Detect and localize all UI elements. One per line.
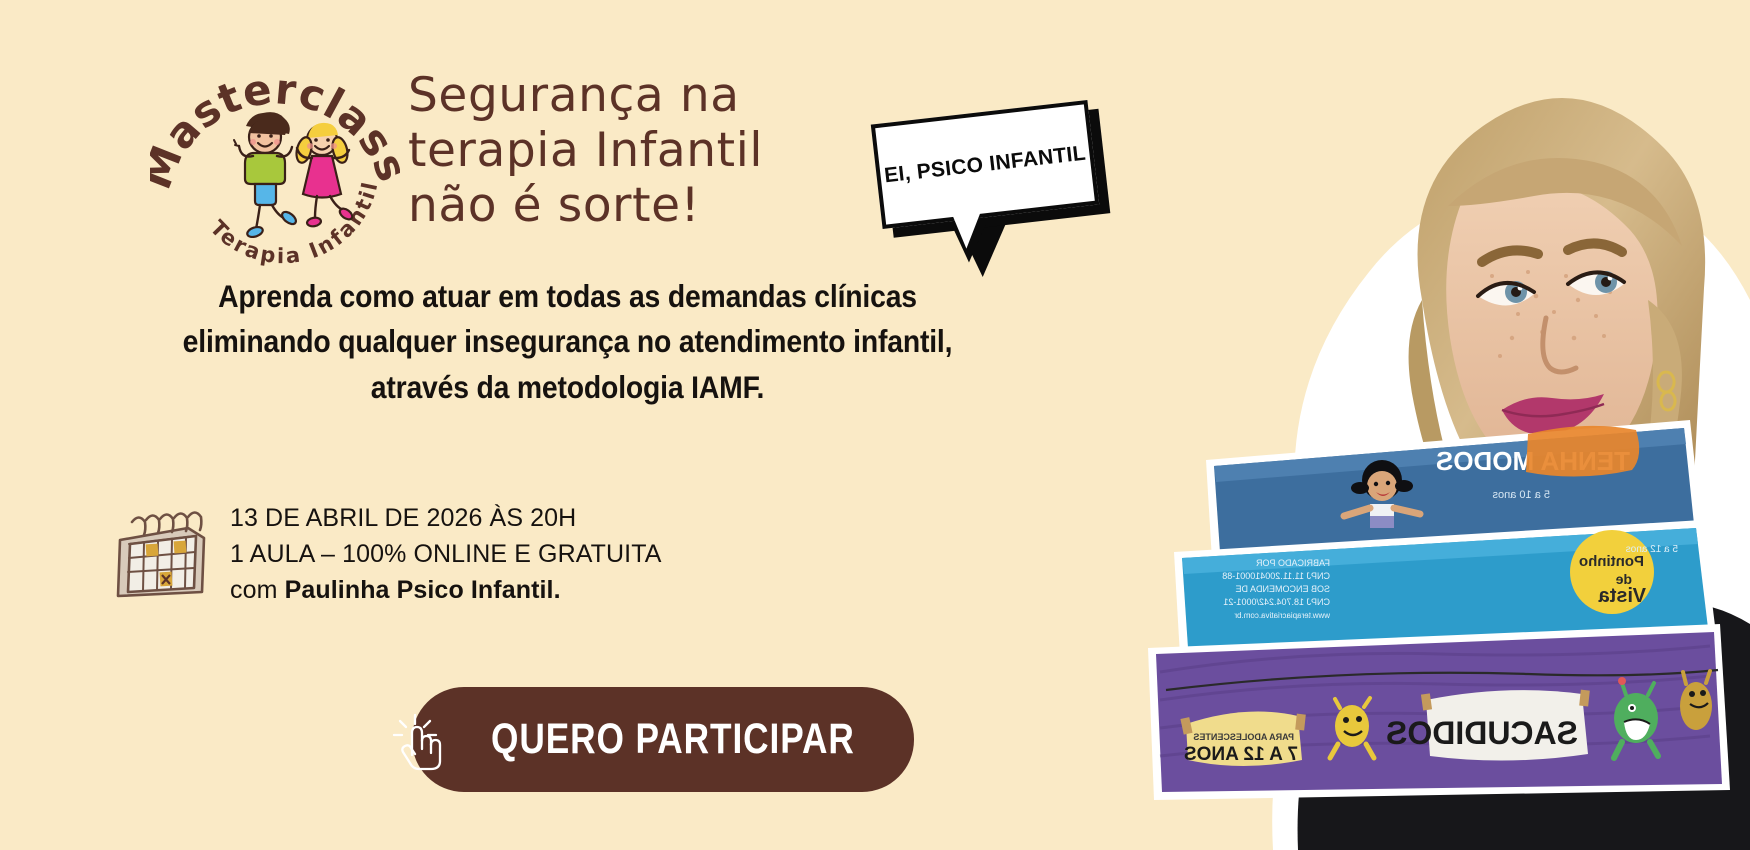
subheadline-line-3: através da metodologia IAMF. bbox=[93, 365, 1043, 410]
headline: Segurança na terapia Infantil não é sort… bbox=[408, 68, 878, 233]
cta-label: QUERO PARTICIPAR bbox=[491, 715, 855, 764]
headline-line-1: Segurança na bbox=[408, 68, 878, 123]
headline-line-2: terapia Infantil bbox=[408, 123, 878, 178]
box-sacudidos: SACUDIDOS 7 A 12 ANOS PARA ADOLESCENTES bbox=[1148, 624, 1730, 800]
box1-age: 5 a 10 anos bbox=[1492, 489, 1550, 501]
headline-line-3: não é sorte! bbox=[408, 178, 878, 233]
svg-text:CNPJ 11.11.200410001-88: CNPJ 11.11.200410001-88 bbox=[1222, 571, 1330, 581]
box3-age: 7 A 12 ANOS bbox=[1184, 744, 1298, 765]
promo-banner: Masterclass Terapia Infantil bbox=[0, 0, 1750, 850]
logo-boy-figure bbox=[234, 112, 298, 239]
subheadline-line-2: eliminando qualquer insegurança no atend… bbox=[93, 319, 1043, 364]
event-details: 13 DE ABRIL DE 2026 ÀS 20H 1 AULA – 100%… bbox=[110, 500, 662, 608]
svg-text:SOB ENCOMENDA DE: SOB ENCOMENDA DE bbox=[1235, 584, 1330, 594]
box2-title-c: Vista bbox=[1598, 585, 1646, 607]
box2-age: 5 a 12 anos bbox=[1626, 544, 1678, 555]
event-text-block: 13 DE ABRIL DE 2026 ÀS 20H 1 AULA – 100%… bbox=[230, 500, 662, 608]
event-host-line: com Paulinha Psico Infantil. bbox=[230, 572, 662, 608]
subheadline: Aprenda como atuar em todas as demandas … bbox=[93, 274, 1043, 410]
click-hand-icon bbox=[391, 709, 447, 771]
event-host-name: Paulinha Psico Infantil. bbox=[285, 576, 561, 604]
svg-text:FABRICADO POR: FABRICADO POR bbox=[1255, 558, 1330, 568]
presenter-photo-artwork: TENHA MODOS 5 a 10 anos bbox=[1030, 0, 1750, 850]
box3-title: SACUDIDOS bbox=[1386, 715, 1578, 751]
quero-participar-button[interactable]: QUERO PARTICIPAR bbox=[412, 687, 914, 792]
box3-banner-note: PARA ADOLESCENTES bbox=[1193, 732, 1294, 742]
event-host-prefix: com bbox=[230, 576, 285, 604]
speech-bubble-tail-inner bbox=[951, 209, 986, 250]
presenter-photo: TENHA MODOS 5 a 10 anos bbox=[1030, 0, 1750, 850]
event-date: 13 DE ABRIL DE 2026 ÀS 20H bbox=[230, 500, 662, 536]
box2-title-a: Pontinho bbox=[1579, 553, 1644, 570]
logo-artwork: Masterclass Terapia Infantil bbox=[150, 40, 400, 270]
event-format: 1 AULA – 100% ONLINE E GRATUITA bbox=[230, 536, 662, 572]
svg-text:CNPJ 18.704.242/0001-21: CNPJ 18.704.242/0001-21 bbox=[1223, 597, 1330, 607]
svg-text:www.terapiacriativa.com.br: www.terapiacriativa.com.br bbox=[1234, 611, 1331, 620]
calendar-icon bbox=[110, 510, 210, 598]
masterclass-logo: Masterclass Terapia Infantil bbox=[150, 40, 400, 270]
subheadline-line-1: Aprenda como atuar em todas as demandas … bbox=[93, 274, 1043, 319]
